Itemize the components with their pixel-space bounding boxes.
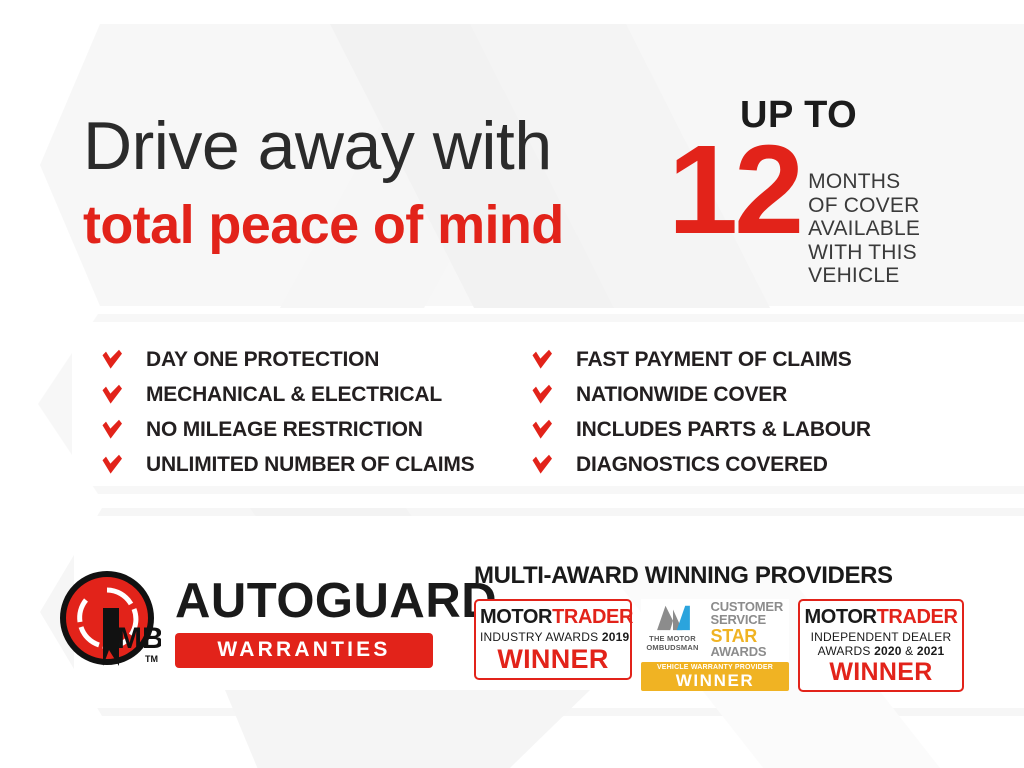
autoguard-name: AUTOGUARD	[175, 577, 497, 626]
cover-detail-line-5: VEHICLE	[808, 264, 920, 288]
cover-duration-block: UP TO 12 MONTHS OF COVER AVAILABLE WITH …	[668, 96, 968, 288]
warranties-bar: WARRANTIES	[175, 633, 433, 668]
ombudsman-line-1: THE MOTOR	[642, 634, 704, 643]
feature-item: DIAGNOSTICS COVERED	[530, 447, 950, 482]
mbi-logo-icon: MBi TM	[57, 570, 161, 674]
award-badge-motor-trader-2020-2021: MOTORTRADER INDEPENDENT DEALER AWARDS 20…	[798, 599, 964, 692]
feature-label: MECHANICAL & ELECTRICAL	[146, 383, 442, 407]
check-icon	[100, 384, 124, 406]
customer-service-star-awards-block: CUSTOMER SERVICE STAR AWARDS	[711, 600, 789, 658]
feature-label: DAY ONE PROTECTION	[146, 348, 379, 372]
headline-line-2: total peace of mind	[83, 198, 564, 252]
ombudsman-name: THE MOTOR OMBUDSMAN	[642, 634, 704, 652]
feature-item: NATIONWIDE COVER	[530, 377, 950, 412]
badge-subtitle: INDUSTRY AWARDS 2019	[480, 630, 626, 644]
badge-year-2: 2021	[917, 644, 945, 658]
badge-brand-part-1: MOTOR	[804, 606, 876, 628]
feature-label: FAST PAYMENT OF CLAIMS	[576, 348, 852, 372]
badge-awards-word: AWARDS	[818, 644, 875, 658]
svg-text:MBi: MBi	[117, 622, 161, 655]
features-list: DAY ONE PROTECTION MECHANICAL & ELECTRIC…	[100, 342, 960, 482]
badge-brand-part-2: TRADER	[552, 606, 633, 628]
check-icon	[100, 419, 124, 441]
check-icon	[530, 454, 554, 476]
cover-detail-line-2: OF COVER	[808, 194, 920, 218]
badge-brand: MOTORTRADER	[804, 607, 958, 627]
ombudsman-winner-ribbon: VEHICLE WARRANTY PROVIDER WINNER	[641, 662, 789, 691]
css-awards-word: AWARDS	[711, 645, 789, 658]
check-icon	[530, 384, 554, 406]
check-icon	[530, 349, 554, 371]
badge-brand-part-1: MOTOR	[480, 606, 552, 628]
feature-label: NATIONWIDE COVER	[576, 383, 787, 407]
features-column-right: FAST PAYMENT OF CLAIMS NATIONWIDE COVER …	[530, 342, 950, 482]
promo-banner: Drive away with total peace of mind UP T…	[0, 0, 1024, 768]
ribbon-winner-label: WINNER	[645, 672, 785, 690]
award-badge-motor-ombudsman: THE MOTOR OMBUDSMAN CUSTOMER SERVICE STA…	[641, 599, 789, 691]
feature-item: MECHANICAL & ELECTRICAL	[100, 377, 530, 412]
feature-label: DIAGNOSTICS COVERED	[576, 453, 828, 477]
awards-section: MULTI-AWARD WINNING PROVIDERS MOTORTRADE…	[474, 562, 974, 692]
badge-subtitle: INDEPENDENT DEALER AWARDS 2020 & 2021	[804, 630, 958, 658]
chevron-watermark-tail	[170, 690, 590, 768]
cover-detail-line-4: WITH THIS	[808, 241, 920, 265]
feature-item: NO MILEAGE RESTRICTION	[100, 412, 530, 447]
css-line-2: SERVICE	[711, 613, 789, 626]
badge-brand-part-2: TRADER	[877, 606, 958, 628]
feature-item: FAST PAYMENT OF CLAIMS	[530, 342, 950, 377]
badge-subtitle-line-1: INDEPENDENT DEALER	[804, 630, 958, 644]
headline-block: Drive away with total peace of mind	[83, 112, 564, 252]
badge-year-1: 2020	[874, 644, 902, 658]
feature-label: UNLIMITED NUMBER OF CLAIMS	[146, 453, 474, 477]
badge-winner-label: WINNER	[480, 646, 626, 673]
cover-detail-line-3: AVAILABLE	[808, 217, 920, 241]
warranties-label: WARRANTIES	[217, 638, 390, 661]
feature-item: DAY ONE PROTECTION	[100, 342, 530, 377]
badge-year-separator: &	[902, 644, 917, 658]
badge-brand: MOTORTRADER	[480, 607, 626, 627]
ombudsman-line-2: OMBUDSMAN	[642, 643, 704, 652]
motor-ombudsman-icon	[654, 602, 692, 632]
ombudsman-top-row: THE MOTOR OMBUDSMAN CUSTOMER SERVICE STA…	[641, 600, 789, 658]
feature-item: INCLUDES PARTS & LABOUR	[530, 412, 950, 447]
css-star-word: STAR	[711, 627, 789, 645]
check-icon	[100, 349, 124, 371]
autoguard-wordmark: AUTOGUARD WARRANTIES	[175, 577, 497, 668]
feature-label: NO MILEAGE RESTRICTION	[146, 418, 423, 442]
badge-winner-label: WINNER	[804, 660, 958, 685]
features-column-left: DAY ONE PROTECTION MECHANICAL & ELECTRIC…	[100, 342, 530, 482]
cover-detail-line-1: MONTHS	[808, 170, 920, 194]
award-badges: MOTORTRADER INDUSTRY AWARDS 2019 WINNER	[474, 599, 974, 692]
autoguard-logo-lockup: MBi TM AUTOGUARD WARRANTIES	[57, 570, 497, 674]
badge-subtitle-line-2: AWARDS 2020 & 2021	[804, 644, 958, 658]
cover-detail-text: MONTHS OF COVER AVAILABLE WITH THIS VEHI…	[808, 170, 920, 288]
badge-subtitle-text: INDUSTRY AWARDS	[480, 630, 598, 644]
headline-line-1: Drive away with	[83, 112, 564, 180]
awards-title: MULTI-AWARD WINNING PROVIDERS	[474, 562, 974, 590]
css-line-1: CUSTOMER	[711, 600, 789, 613]
check-icon	[100, 454, 124, 476]
check-icon	[530, 419, 554, 441]
trademark-symbol: TM	[145, 654, 158, 664]
ombudsman-logo-block: THE MOTOR OMBUDSMAN	[642, 600, 704, 652]
feature-label: INCLUDES PARTS & LABOUR	[576, 418, 871, 442]
award-badge-motor-trader-2019: MOTORTRADER INDUSTRY AWARDS 2019 WINNER	[474, 599, 632, 680]
cover-months-number: 12	[668, 136, 800, 244]
badge-year: 2019	[602, 630, 630, 644]
feature-item: UNLIMITED NUMBER OF CLAIMS	[100, 447, 530, 482]
